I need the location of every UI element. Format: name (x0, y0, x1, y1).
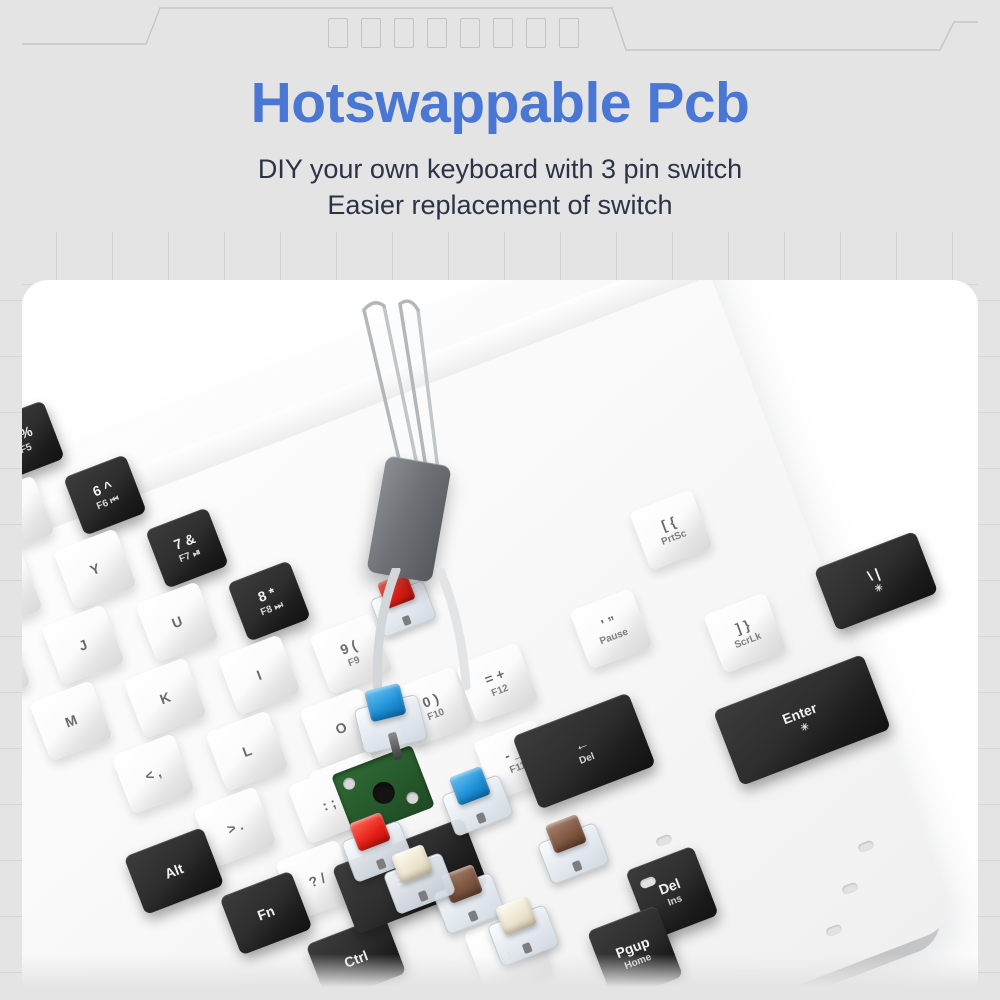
gutter-tick (978, 412, 1000, 413)
gutter-tick (978, 468, 1000, 469)
right-gutter-ruler (978, 0, 1000, 1000)
page-subtitle: DIY your own keyboard with 3 pin switch … (0, 152, 1000, 224)
keycap-switch-puller[interactable] (340, 292, 470, 602)
key-legend: M (63, 711, 80, 730)
gutter-tick (978, 860, 1000, 861)
grid-vtick (896, 232, 897, 284)
key-sublegend: F5 (22, 442, 34, 457)
key-legend: L (240, 742, 254, 760)
grid-vtick (784, 232, 785, 284)
grid-vtick (504, 232, 505, 284)
key-legend: K (157, 689, 172, 708)
key-sublegend: Ins (666, 893, 684, 909)
key-backslash[interactable]: \ | ☀ (814, 531, 938, 631)
gutter-tick (978, 524, 1000, 525)
grid-vtick (672, 232, 673, 284)
subtitle-line-2: Easier replacement of switch (0, 188, 1000, 224)
sun-icon: ☀ (799, 721, 811, 735)
gutter-tick (0, 804, 22, 805)
heading-block: Hotswappable Pcb DIY your own keyboard w… (0, 0, 1000, 224)
product-photo-card: 5 % F5 6 ^ F6 ⏮ 7 & F7 ⏯ 8 * F8 ⏭ 9 ( F9… (22, 280, 978, 1000)
gutter-tick (0, 916, 22, 917)
pcb-hole (405, 790, 421, 806)
gutter-tick (0, 860, 22, 861)
key-legend: Fn (255, 902, 277, 923)
key-legend: U (169, 613, 184, 632)
grid-vtick (112, 232, 113, 284)
gutter-tick (0, 748, 22, 749)
product-infographic-page: Hotswappable Pcb DIY your own keyboard w… (0, 0, 1000, 1000)
grid-vtick (616, 232, 617, 284)
gutter-tick (978, 972, 1000, 973)
page-title: Hotswappable Pcb (0, 74, 1000, 134)
gutter-tick (0, 468, 22, 469)
key-sublegend: F9 (347, 655, 362, 670)
pcb-center-hole (370, 779, 398, 807)
gutter-tick (978, 636, 1000, 637)
gutter-tick (0, 524, 22, 525)
grid-vtick (168, 232, 169, 284)
grid-vtick (56, 232, 57, 284)
gutter-tick (0, 300, 22, 301)
key-sublegend: Del (578, 751, 597, 767)
keyboard-photo: 5 % F5 6 ^ F6 ⏮ 7 & F7 ⏯ 8 * F8 ⏭ 9 ( F9… (22, 280, 978, 1000)
grid-vtick (560, 232, 561, 284)
grid-vtick (336, 232, 337, 284)
key-legend: ? / (306, 870, 327, 891)
gutter-tick (978, 356, 1000, 357)
key-legend: Alt (162, 860, 185, 882)
gutter-tick (978, 804, 1000, 805)
grid-vtick (840, 232, 841, 284)
subtitle-line-1: DIY your own keyboard with 3 pin switch (0, 152, 1000, 188)
key-legend: < , (143, 764, 164, 785)
gutter-tick (0, 972, 22, 973)
grid-vtick (392, 232, 393, 284)
grid-vtick (224, 232, 225, 284)
grid-vtick (448, 232, 449, 284)
gutter-tick (0, 356, 22, 357)
grid-vtick (280, 232, 281, 284)
sun-icon: ☀ (873, 582, 885, 596)
gutter-tick (0, 636, 22, 637)
pcb-hole (341, 776, 357, 792)
key-legend: Y (88, 560, 102, 578)
gutter-tick (978, 580, 1000, 581)
gutter-tick (0, 580, 22, 581)
key-legend: J (76, 636, 89, 654)
gutter-tick (978, 692, 1000, 693)
gutter-tick (0, 692, 22, 693)
card-bottom-fade (22, 954, 978, 1000)
key-legend: I (254, 667, 263, 683)
key-legend: O (333, 719, 349, 738)
grid-vtick (728, 232, 729, 284)
gutter-tick (0, 412, 22, 413)
key-legend: \ | (865, 565, 882, 584)
grid-vtick (952, 232, 953, 284)
gutter-tick (978, 748, 1000, 749)
key-legend: > . (225, 817, 246, 838)
gutter-tick (978, 300, 1000, 301)
gutter-tick (978, 916, 1000, 917)
left-gutter-ruler (0, 0, 22, 1000)
key-legend: : ; (320, 794, 338, 814)
